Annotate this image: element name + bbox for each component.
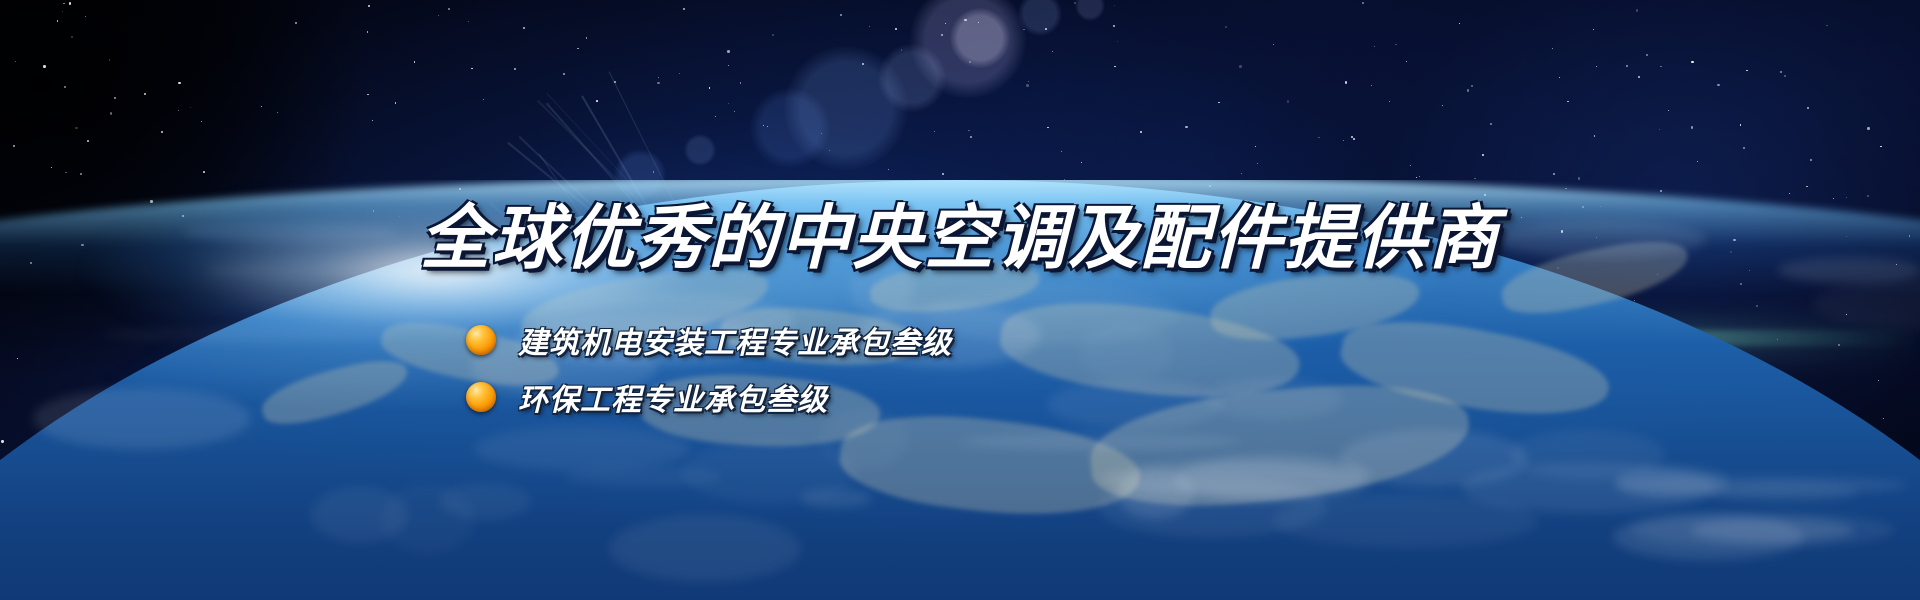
list-item: 环保工程专业承包叁级: [466, 372, 1366, 422]
hero-banner: 全球优秀的中央空调及配件提供商 建筑机电安装工程专业承包叁级 环保工程专业承包叁…: [0, 0, 1920, 600]
list-item-label: 环保工程专业承包叁级: [518, 375, 828, 419]
bullet-dot-icon: [466, 325, 496, 355]
feature-list: 建筑机电安装工程专业承包叁级 环保工程专业承包叁级: [466, 315, 1366, 429]
banner-content: 全球优秀的中央空调及配件提供商 建筑机电安装工程专业承包叁级 环保工程专业承包叁…: [0, 0, 1920, 600]
list-item: 建筑机电安装工程专业承包叁级: [466, 315, 1366, 365]
bullet-dot-icon: [466, 382, 496, 412]
banner-headline: 全球优秀的中央空调及配件提供商: [0, 203, 1920, 273]
list-item-label: 建筑机电安装工程专业承包叁级: [518, 318, 952, 362]
